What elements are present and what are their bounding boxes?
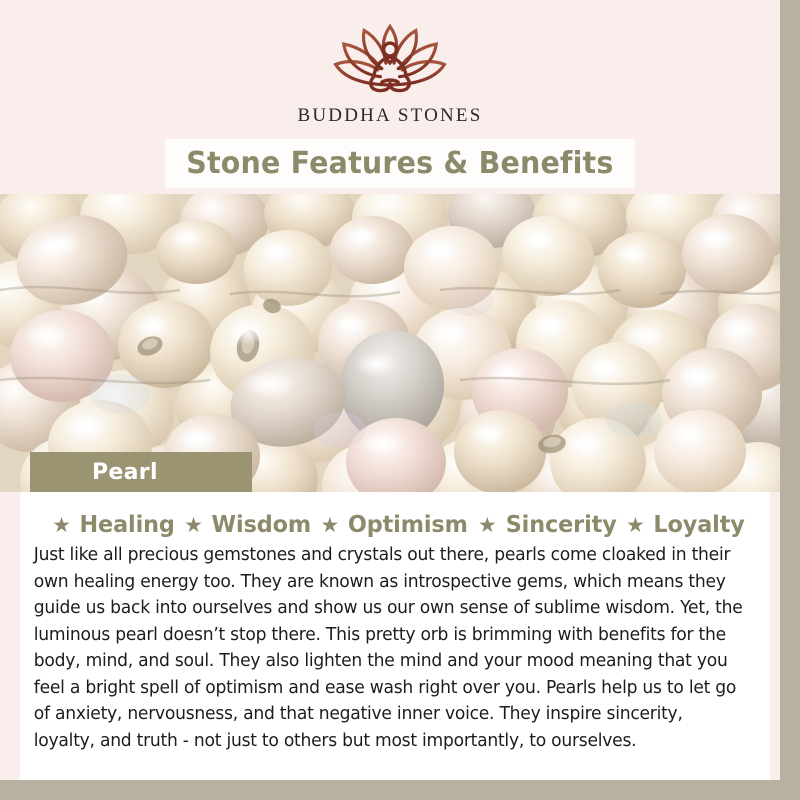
title-banner: Stone Features & Benefits (165, 139, 635, 188)
benefit-item: ★ Loyalty (618, 512, 746, 538)
description-paragraph: Just like all precious gemstones and cry… (20, 542, 759, 754)
stone-name-label: Pearl (30, 452, 252, 492)
brand-logo: BUDDHA STONES (0, 14, 780, 127)
benefit-label: Loyalty (653, 512, 744, 538)
benefit-label: Sincerity (505, 512, 616, 538)
benefit-item: ★ Optimism (312, 512, 469, 538)
pearl-photo (0, 194, 780, 492)
benefit-item: ★ Wisdom (176, 512, 312, 538)
content-panel: ★ Healing ★ Wisdom ★ Optimism ★ Sincerit… (20, 492, 770, 780)
benefit-label: Optimism (348, 512, 468, 538)
benefit-label: Wisdom (211, 512, 311, 538)
star-icon: ★ (478, 515, 497, 536)
star-icon: ★ (626, 515, 645, 536)
star-icon: ★ (52, 515, 71, 536)
benefits-list: ★ Healing ★ Wisdom ★ Optimism ★ Sincerit… (20, 512, 770, 538)
benefit-item: ★ Sincerity (470, 512, 618, 538)
hero-image: Pearl (0, 194, 780, 492)
page-title: Stone Features & Benefits (186, 146, 613, 181)
poster-canvas: BUDDHA STONES Stone Features & Benefits (0, 0, 800, 800)
star-icon: ★ (320, 515, 339, 536)
poster-card: BUDDHA STONES Stone Features & Benefits (0, 0, 780, 780)
stone-name-text: Pearl (92, 460, 158, 485)
lotus-meditation-figure-icon (322, 14, 458, 100)
brand-name: BUDDHA STONES (0, 105, 780, 127)
star-icon: ★ (184, 515, 203, 536)
benefit-item: ★ Healing (44, 512, 176, 538)
benefit-label: Healing (79, 512, 174, 538)
